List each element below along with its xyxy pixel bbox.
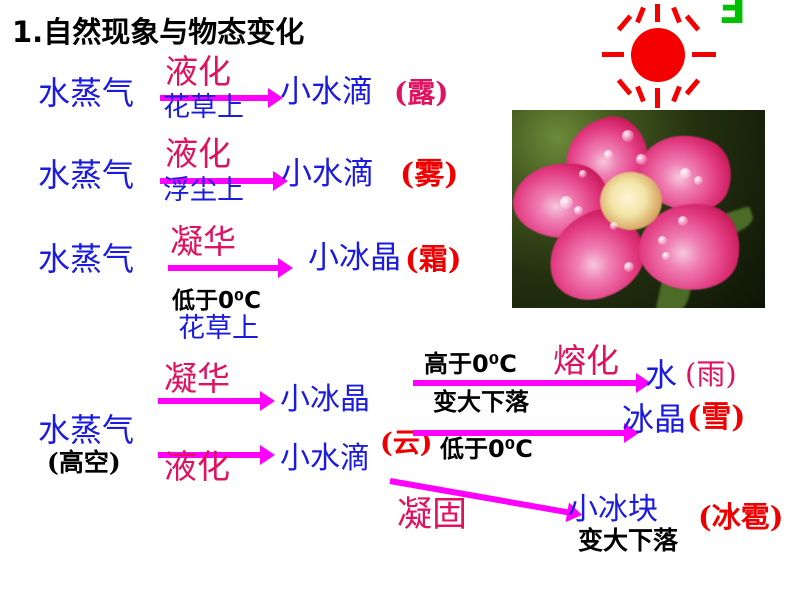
hail-result-name: (冰雹) [698, 503, 783, 532]
row1-result: 小水滴 [280, 77, 373, 108]
rain-arrow [413, 380, 638, 386]
water-drop [658, 236, 667, 245]
cloud-lower-result: 小水滴 [280, 444, 370, 474]
row3-source: 水蒸气 [38, 243, 134, 275]
cloud-lower-process: 液化 [164, 450, 230, 483]
rain-result-name: (雨) [685, 360, 737, 389]
water-drop [680, 168, 691, 179]
row3-result: 小冰晶 [308, 243, 401, 274]
row2-result-name: (雾) [400, 160, 458, 190]
row1-process: 液化 [165, 55, 231, 88]
rain-condition: 高于0⁰C [424, 352, 517, 376]
row3-condition-bottom: 花草上 [178, 315, 259, 342]
sun-ray [685, 78, 700, 95]
water-drop [624, 262, 634, 272]
row3-condition-top: 低于0⁰C [172, 290, 261, 313]
cloud-upper-arrow [158, 398, 262, 404]
sun-ray [617, 78, 632, 95]
slide-canvas: 1.自然现象与物态变化 Ǝ [0, 0, 800, 600]
cloud-source: 水蒸气 [38, 414, 134, 446]
row2-process: 液化 [165, 137, 231, 170]
sun-ray [635, 7, 646, 24]
snow-condition-bottom: 低于0⁰C [440, 437, 533, 461]
rain-process: 熔化 [553, 344, 619, 377]
sun-ray [685, 14, 700, 31]
row3-process: 凝华 [170, 225, 236, 258]
sun-ray [617, 14, 632, 31]
rain-result: 水 [645, 359, 677, 391]
sun-ray [671, 86, 682, 103]
sun-ray [655, 4, 660, 22]
row2-result: 小水滴 [281, 159, 374, 190]
hail-condition: 变大下落 [578, 528, 678, 553]
cloud-source-note: (高空) [47, 450, 121, 475]
water-drop [662, 252, 670, 260]
sun-ray [655, 88, 660, 108]
row1-result-name: (露) [394, 79, 449, 107]
snow-result: 冰晶 [622, 403, 686, 435]
row1-source: 水蒸气 [38, 77, 134, 109]
hail-process: 凝固 [397, 498, 467, 533]
hail-result: 小冰块 [568, 495, 658, 525]
water-drop [636, 154, 647, 165]
water-drop [678, 216, 688, 226]
water-drop [574, 206, 583, 215]
flower-photo [512, 110, 765, 308]
row1-condition: 花草上 [163, 94, 244, 121]
flower-center [600, 172, 662, 230]
row2-source: 水蒸气 [38, 159, 134, 191]
water-drop [560, 196, 573, 209]
row2-condition: 浮尘上 [163, 177, 244, 204]
water-drop [622, 130, 634, 142]
sun-core [631, 28, 685, 82]
snow-condition-top: 变大下落 [433, 390, 529, 414]
water-drop [579, 170, 587, 178]
cloud-upper-process: 凝华 [164, 362, 230, 395]
water-drop [694, 176, 703, 185]
row3-result-name: (霜) [405, 245, 461, 274]
sun-icon [600, 4, 720, 114]
sun-ray [692, 52, 716, 57]
row3-arrow [168, 265, 280, 271]
snow-result-name: (雪) [687, 403, 745, 433]
page-title: 1.自然现象与物态变化 [12, 18, 304, 47]
green-mark-glyph: Ǝ [718, 0, 745, 30]
water-drop [604, 150, 613, 159]
water-drop [610, 222, 618, 230]
cloud-upper-result: 小冰晶 [280, 385, 370, 415]
sun-ray [671, 7, 682, 24]
sun-ray [635, 86, 646, 103]
sun-ray [602, 52, 624, 57]
